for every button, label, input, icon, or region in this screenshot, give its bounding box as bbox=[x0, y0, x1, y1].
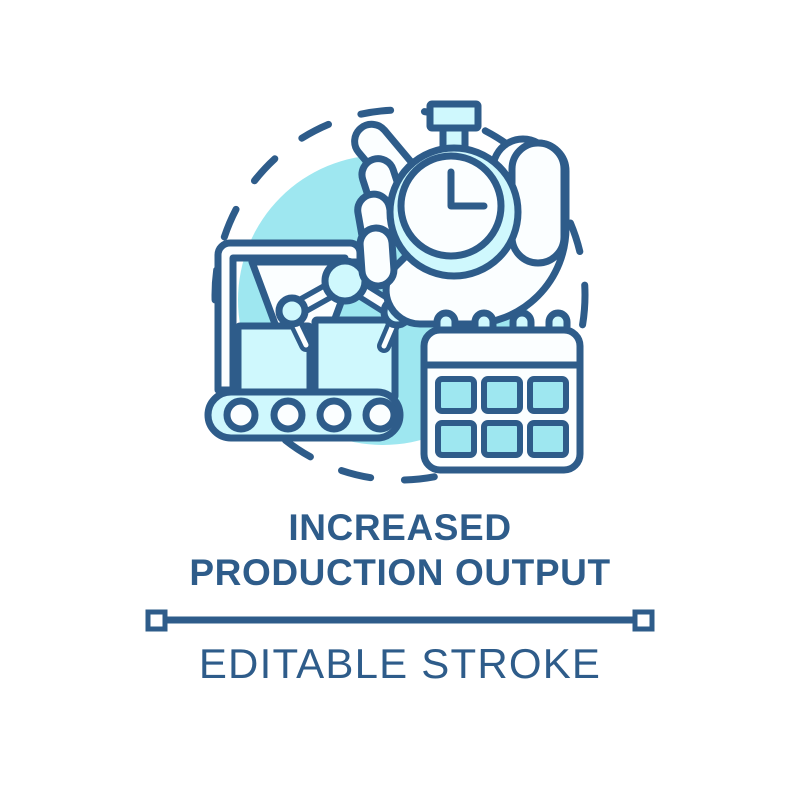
conveyor-wheel bbox=[227, 401, 255, 429]
title-line-1: INCREASED bbox=[0, 505, 800, 550]
divider-handle-right[interactable] bbox=[635, 612, 652, 629]
hand-finger bbox=[359, 227, 395, 287]
calendar-cell bbox=[484, 379, 520, 411]
subtitle: EDITABLE STROKE bbox=[0, 638, 800, 690]
calendar-cell bbox=[438, 379, 474, 411]
divider-graphic bbox=[0, 604, 800, 636]
calendar-cell bbox=[530, 379, 566, 411]
stopwatch-crown bbox=[430, 104, 478, 128]
title-line-2: PRODUCTION OUTPUT bbox=[0, 550, 800, 595]
conveyor-wheel bbox=[320, 401, 348, 429]
page-title: INCREASED PRODUCTION OUTPUT bbox=[0, 505, 800, 595]
stopwatch bbox=[390, 104, 518, 276]
calendar-cell bbox=[484, 423, 520, 455]
calendar bbox=[424, 313, 580, 470]
subtitle-line-1: EDITABLE STROKE bbox=[0, 638, 800, 690]
calendar-cell bbox=[438, 423, 474, 455]
robot-joint-left bbox=[279, 298, 305, 324]
conveyor-wheel bbox=[366, 401, 394, 429]
stroke-width-indicator bbox=[0, 604, 800, 636]
illustration-canvas: INCREASED PRODUCTION OUTPUT EDITABLE STR… bbox=[0, 0, 800, 800]
conveyor-wheel bbox=[274, 401, 302, 429]
calendar-cell bbox=[530, 423, 566, 455]
divider-handle-left[interactable] bbox=[148, 612, 165, 629]
